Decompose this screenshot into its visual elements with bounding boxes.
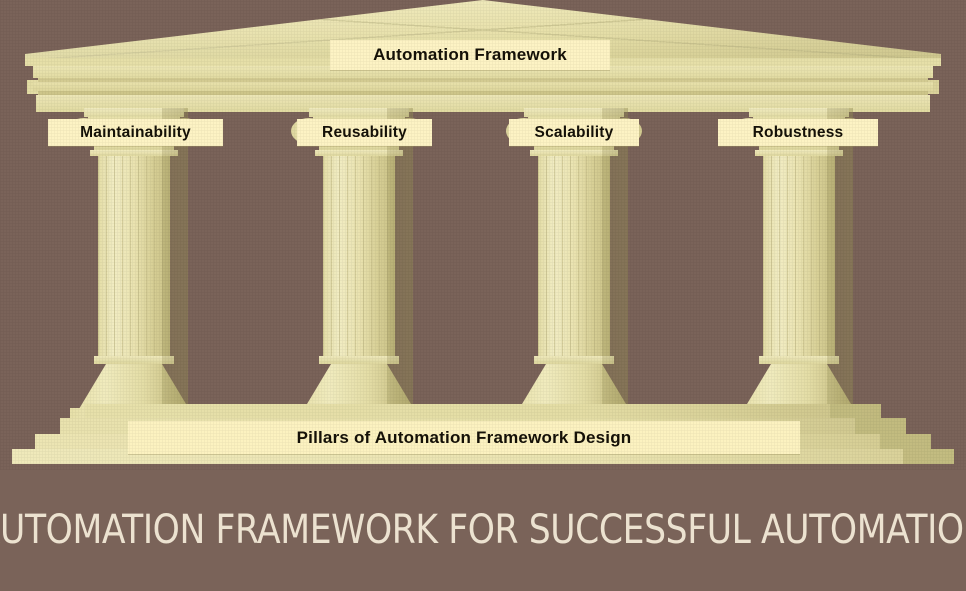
column-base-ring (94, 356, 174, 364)
column-shaft (98, 156, 170, 356)
pillar-2 (295, 108, 423, 420)
cornice-band-4 (33, 82, 933, 91)
page-caption: AUTOMATION FRAMEWORK FOR SUCCESSFUL AUTO… (19, 500, 946, 560)
step-shadow-1 (855, 418, 906, 434)
step-shadow-2 (880, 434, 931, 449)
capital-abacus (749, 108, 849, 117)
pillar-1 (70, 108, 198, 420)
column-base-ring (319, 356, 399, 364)
pillar-4 (735, 108, 863, 420)
capital-abacus (84, 108, 184, 117)
pillar-label-scalability: Scalability (509, 119, 639, 146)
banner-label: Pillars of Automation Framework Design (128, 421, 800, 454)
capital-abacus (524, 108, 624, 117)
column-shaft (538, 156, 610, 356)
pediment-title-label: Automation Framework (330, 40, 610, 70)
infographic-canvas: Pillars of Automation Framework Design A… (0, 0, 966, 591)
pillar-3 (510, 108, 638, 420)
column-shaft (323, 156, 395, 356)
pillar-label-maintainability: Maintainability (48, 119, 223, 146)
stylobate-step-0 (85, 404, 881, 418)
column-base-ring (759, 356, 839, 364)
pillar-label-robustness: Robustness (718, 119, 878, 146)
column-base-ring (534, 356, 614, 364)
column-shaft (763, 156, 835, 356)
step-shadow-3 (903, 449, 954, 464)
capital-abacus (309, 108, 409, 117)
pillar-label-reusability: Reusability (297, 119, 432, 146)
step-shadow-0 (830, 404, 881, 418)
